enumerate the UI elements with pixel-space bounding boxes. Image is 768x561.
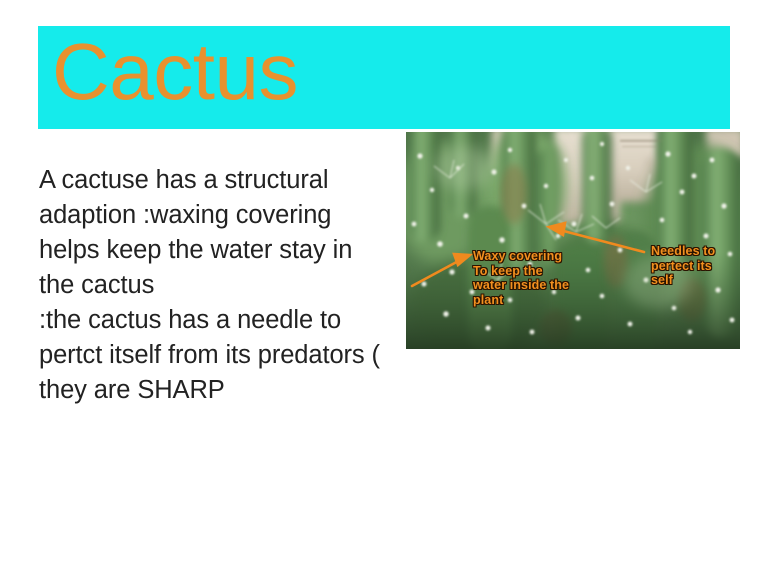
cactus-photo: Waxy covering To keep the water inside t… <box>406 132 740 349</box>
title-banner: Cactus <box>38 26 730 129</box>
body-text: A cactuse has a structural adaption :wax… <box>39 163 384 408</box>
cactus-photo-image <box>406 132 740 349</box>
page-title: Cactus <box>52 20 298 124</box>
slide-canvas: Cactus A cactuse has a structural adapti… <box>0 0 768 561</box>
